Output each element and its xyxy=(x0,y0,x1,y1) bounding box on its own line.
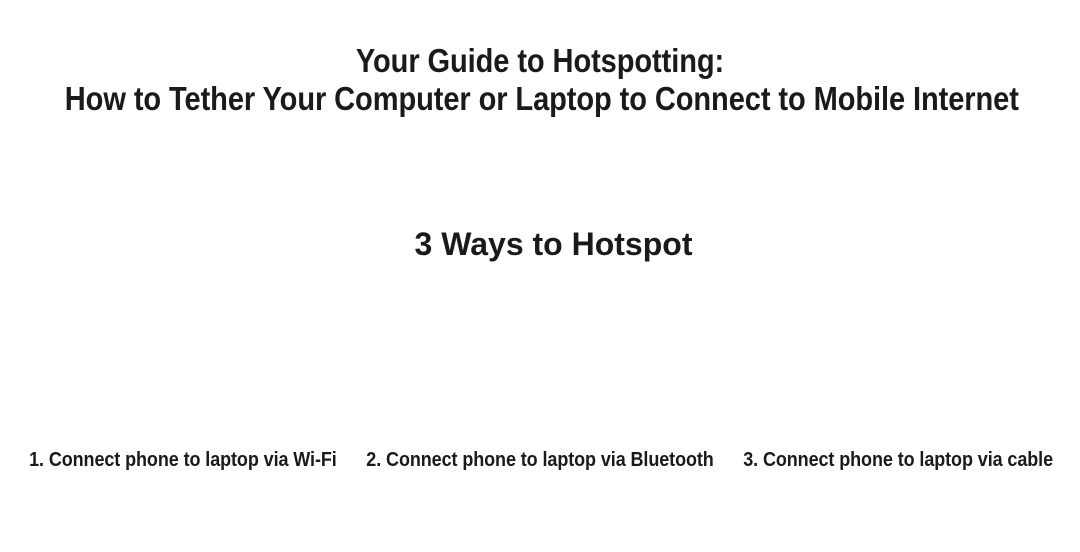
section-heading: 3 Ways to Hotspot xyxy=(415,224,693,264)
bluetooth-tethering-illustration xyxy=(360,286,720,448)
cable-tethering-illustration xyxy=(724,286,1072,448)
method-caption-bluetooth: 2. Connect phone to laptop via Bluetooth xyxy=(366,448,713,472)
method-caption-wifi: 1. Connect phone to laptop via Wi-Fi xyxy=(29,448,337,472)
methods-strip: 1. Connect phone to laptop via Wi-Fi 2. … xyxy=(0,286,1080,512)
method-item-cable: 3. Connect phone to laptop via cable xyxy=(724,286,1080,512)
page-title: Your Guide to Hotspotting: How to Tether… xyxy=(0,42,1080,118)
page-title-line-1: Your Guide to Hotspotting: xyxy=(65,42,1015,80)
section-heading-container: 3 Ways to Hotspot xyxy=(0,224,1080,264)
page-title-line-2: How to Tether Your Computer or Laptop to… xyxy=(65,80,1015,118)
method-item-bluetooth: 2. Connect phone to laptop via Bluetooth xyxy=(360,286,720,512)
method-caption-cable: 3. Connect phone to laptop via cable xyxy=(743,448,1053,472)
page-root: Your Guide to Hotspotting: How to Tether… xyxy=(0,0,1080,552)
wifi-tethering-illustration xyxy=(10,286,356,448)
method-item-wifi: 1. Connect phone to laptop via Wi-Fi xyxy=(0,286,356,512)
